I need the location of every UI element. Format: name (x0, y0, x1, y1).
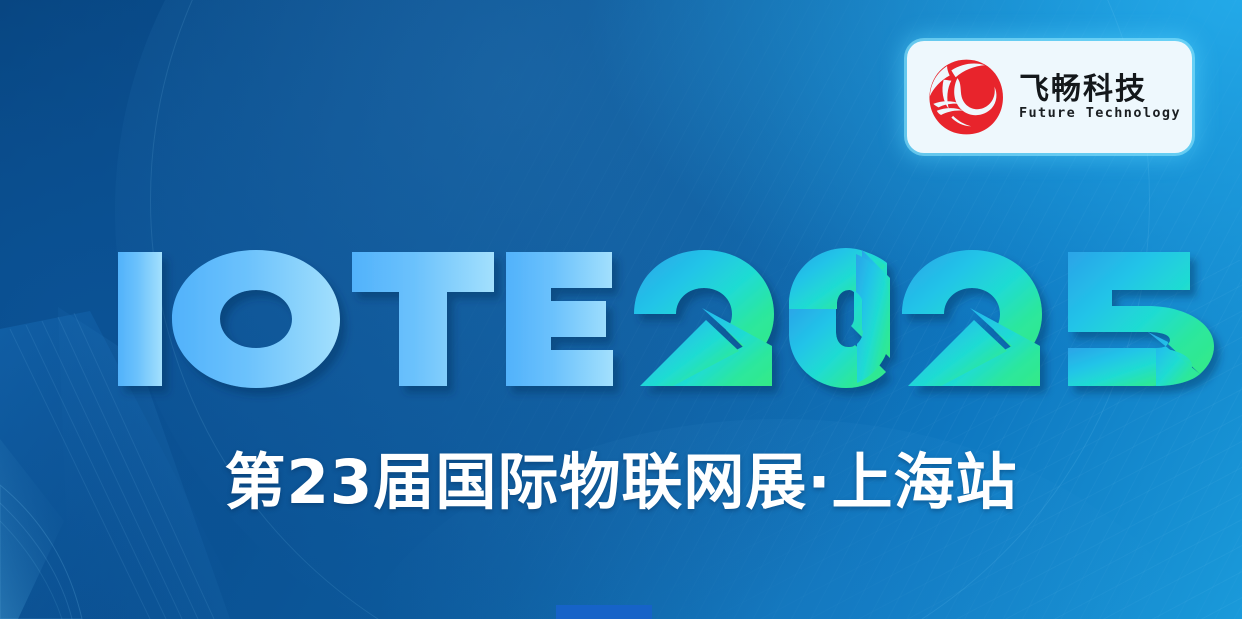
event-subtitle: 第23届国际物联网展·上海站 (0, 452, 1242, 513)
sponsor-logo-badge[interactable]: 飞畅科技 Future Technology (907, 41, 1192, 153)
feichang-emblem-icon (923, 54, 1009, 140)
wordmark-iote (118, 250, 613, 388)
logo-text-block: 飞畅科技 Future Technology (1019, 73, 1181, 121)
logo-company-name-en: Future Technology (1019, 107, 1181, 121)
logo-company-name-cn: 飞畅科技 (1019, 75, 1181, 105)
bottom-center-tab (556, 605, 652, 619)
wordmark-year (634, 234, 1214, 388)
iote-2025-banner: 飞畅科技 Future Technology (0, 0, 1242, 619)
iote-2025-wordmark (0, 234, 1242, 404)
wordmark-graphic (0, 234, 1242, 404)
